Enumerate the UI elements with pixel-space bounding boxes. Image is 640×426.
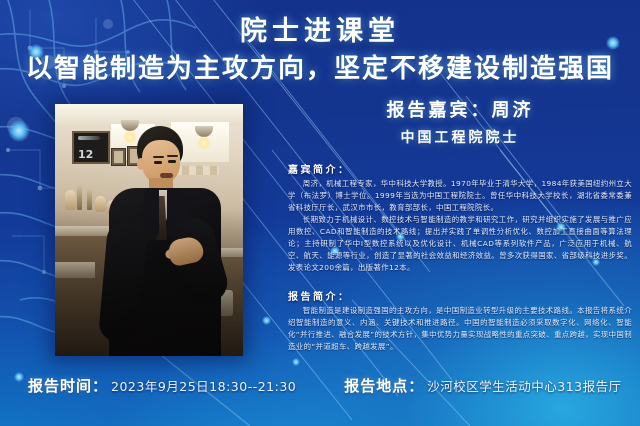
speaker-photo: 12 [55, 104, 243, 356]
poster-footer: 报告时间： 2023年9月25日18:30--21:30 报告地点： 沙河校区学… [0, 372, 640, 398]
section-paragraph: 长期致力于机械设计、数控技术与智能制造的教学和研究工作，研究并组织实施了发展与推… [288, 214, 632, 274]
poster-headline: 院士进课堂 以智能制造为主攻方向，坚定不移建设制造强国 [0, 0, 640, 82]
place-value: 沙河校区学生活动中心313报告厅 [427, 376, 621, 395]
time-label: 报告时间： [28, 375, 108, 396]
guest-name-line: 报告嘉宾：周济 [288, 96, 632, 122]
photo-vignette [55, 104, 243, 356]
glow-dot [292, 358, 300, 366]
section-heading: 报告简介： [288, 288, 632, 303]
footer-place-group: 报告地点： 沙河校区学生活动中心313报告厅 [344, 375, 621, 396]
time-value: 2023年9月25日18:30--21:30 [111, 376, 296, 395]
title-line-2: 以智能制造为主攻方向，坚定不移建设制造强国 [0, 56, 640, 82]
section-paragraph: 周济，机械工程专家，华中科技大学教授。1970年毕业于清华大学，1984年获美国… [288, 178, 632, 214]
poster-root: 12 [0, 0, 640, 426]
poster-text-column: 报告嘉宾：周济 中国工程院院士 嘉宾简介： 周济，机械工程专家，华中科技大学教授… [288, 96, 632, 353]
footer-time-group: 报告时间： 2023年9月25日18:30--21:30 [28, 375, 296, 396]
section-talk-abstract: 报告简介： 智能制造是建设制造强国的主攻方向，是中国制造业转型升级的主要技术路线… [288, 288, 632, 353]
glow-dot [8, 120, 30, 142]
place-label: 报告地点： [344, 375, 424, 396]
section-heading: 嘉宾简介： [288, 161, 632, 176]
guest-title-line: 中国工程院院士 [288, 127, 632, 147]
section-paragraph: 智能制造是建设制造强国的主攻方向，是中国制造业转型升级的主要技术路线。本报告将系… [288, 305, 632, 353]
glow-dot [262, 316, 271, 325]
title-line-1: 院士进课堂 [0, 18, 640, 45]
section-guest-bio: 嘉宾简介： 周济，机械工程专家，华中科技大学教授。1970年毕业于清华大学，19… [288, 161, 632, 274]
